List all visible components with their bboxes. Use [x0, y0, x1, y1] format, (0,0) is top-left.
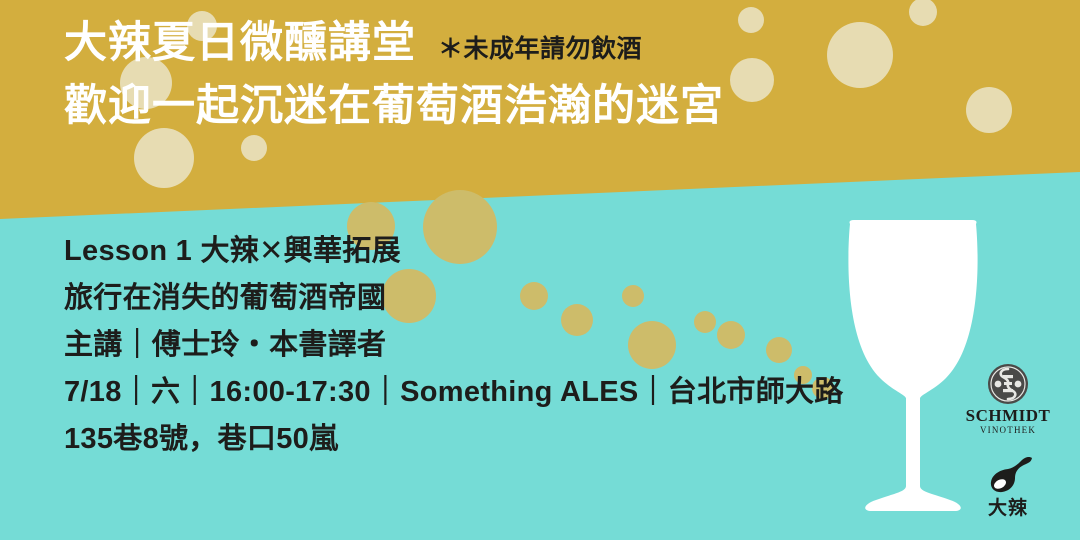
poster-title: 大辣夏日微醺講堂: [64, 16, 416, 71]
poster-subtitle: 歡迎一起沉迷在葡萄酒浩瀚的迷宮: [64, 79, 1024, 134]
schmidt-wordmark: SCHMIDT: [962, 406, 1054, 426]
address-line: 135巷8號，巷口50嵐: [64, 416, 944, 463]
alcohol-warning: ＊未成年請勿飲酒: [438, 29, 642, 65]
schmidt-vinothek-logo: SCHMIDT VINOTHEK: [962, 363, 1054, 435]
header-text-block: 大辣夏日微醺講堂 ＊未成年請勿飲酒 歡迎一起沉迷在葡萄酒浩瀚的迷宮: [64, 16, 1024, 134]
schedule-line: 7/18｜六｜16:00-17:30｜Something ALES｜台北市師大路: [64, 369, 944, 416]
event-poster: 大辣夏日微醺講堂 ＊未成年請勿飲酒 歡迎一起沉迷在葡萄酒浩瀚的迷宮 Lesson…: [0, 0, 1080, 540]
cream-dot: [134, 128, 194, 188]
title-row: 大辣夏日微醺講堂 ＊未成年請勿飲酒: [64, 16, 1024, 71]
schmidt-crest-icon: [987, 363, 1029, 405]
cream-dot: [241, 135, 267, 161]
speaker-line: 主講｜傅士玲・本書譯者: [64, 322, 944, 369]
event-title: 旅行在消失的葡萄酒帝國: [64, 275, 944, 322]
lesson-label: Lesson 1 大辣✕興華拓展: [64, 228, 944, 275]
dala-logo: 大辣: [960, 455, 1056, 520]
event-details-block: Lesson 1 大辣✕興華拓展 旅行在消失的葡萄酒帝國 主講｜傅士玲・本書譯者…: [64, 228, 944, 463]
chili-pepper-icon: [981, 455, 1035, 495]
dala-wordmark: 大辣: [960, 493, 1056, 520]
schmidt-subtitle: VINOTHEK: [962, 425, 1054, 435]
